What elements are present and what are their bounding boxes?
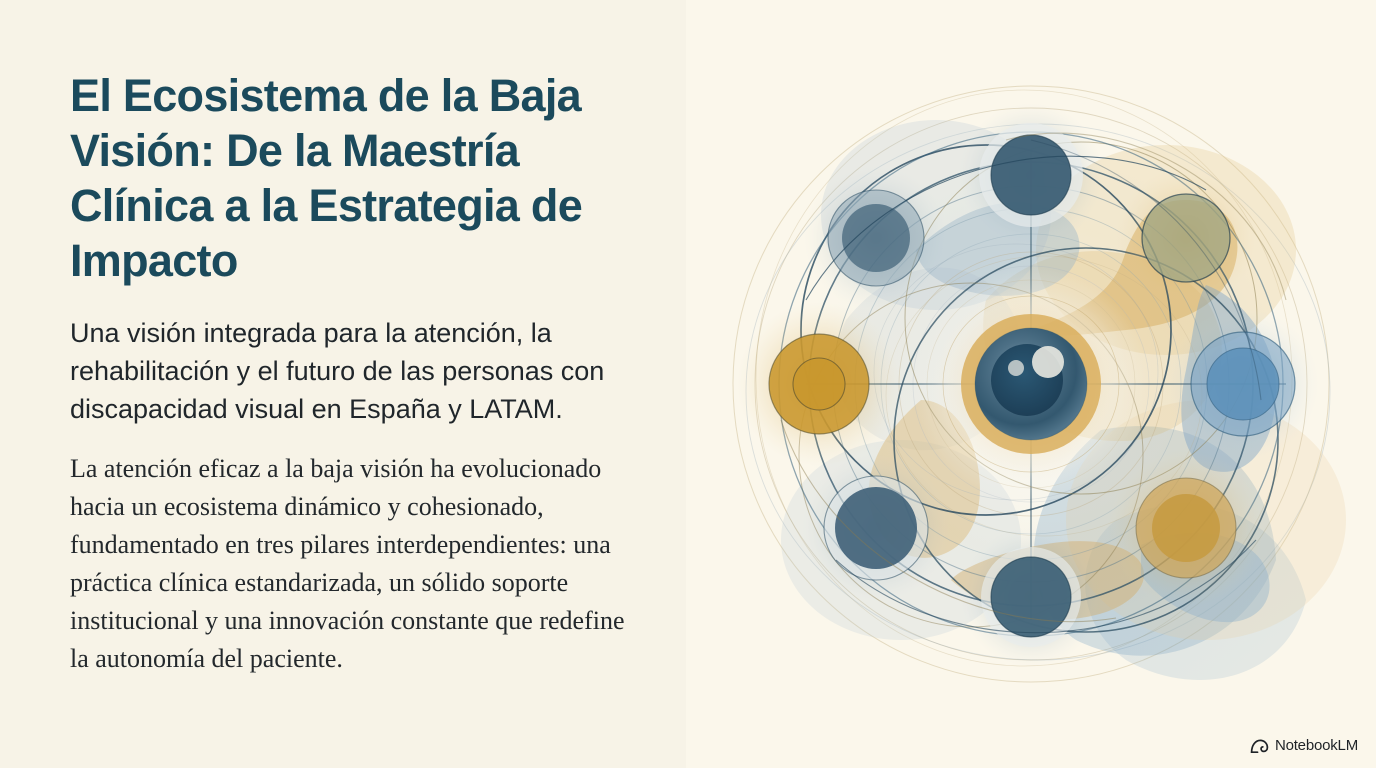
node-top	[959, 103, 1103, 247]
node-bottom-left	[802, 454, 950, 602]
abstract-network-eye-illustration	[686, 0, 1376, 768]
node-right	[1167, 308, 1319, 460]
artwork-panel	[686, 0, 1376, 768]
node-bottom-right	[1108, 450, 1264, 606]
node-top-right	[1116, 168, 1256, 308]
slide-root: El Ecosistema de la Baja Visión: De la M…	[0, 0, 1376, 768]
node-left	[737, 302, 901, 466]
node-top-left	[804, 166, 948, 310]
body-paragraph: La atención eficaz a la baja visión ha e…	[70, 450, 646, 678]
central-eye	[913, 266, 1149, 502]
notebooklm-spiral-icon	[1250, 738, 1269, 753]
node-bottom	[961, 527, 1101, 667]
notebooklm-brand: NotebookLM	[1250, 737, 1358, 754]
subtitle-text: Una visión integrada para la atención, l…	[70, 314, 646, 428]
text-panel: El Ecosistema de la Baja Visión: De la M…	[0, 0, 686, 768]
page-title: El Ecosistema de la Baja Visión: De la M…	[70, 68, 646, 288]
brand-label: NotebookLM	[1275, 737, 1358, 754]
